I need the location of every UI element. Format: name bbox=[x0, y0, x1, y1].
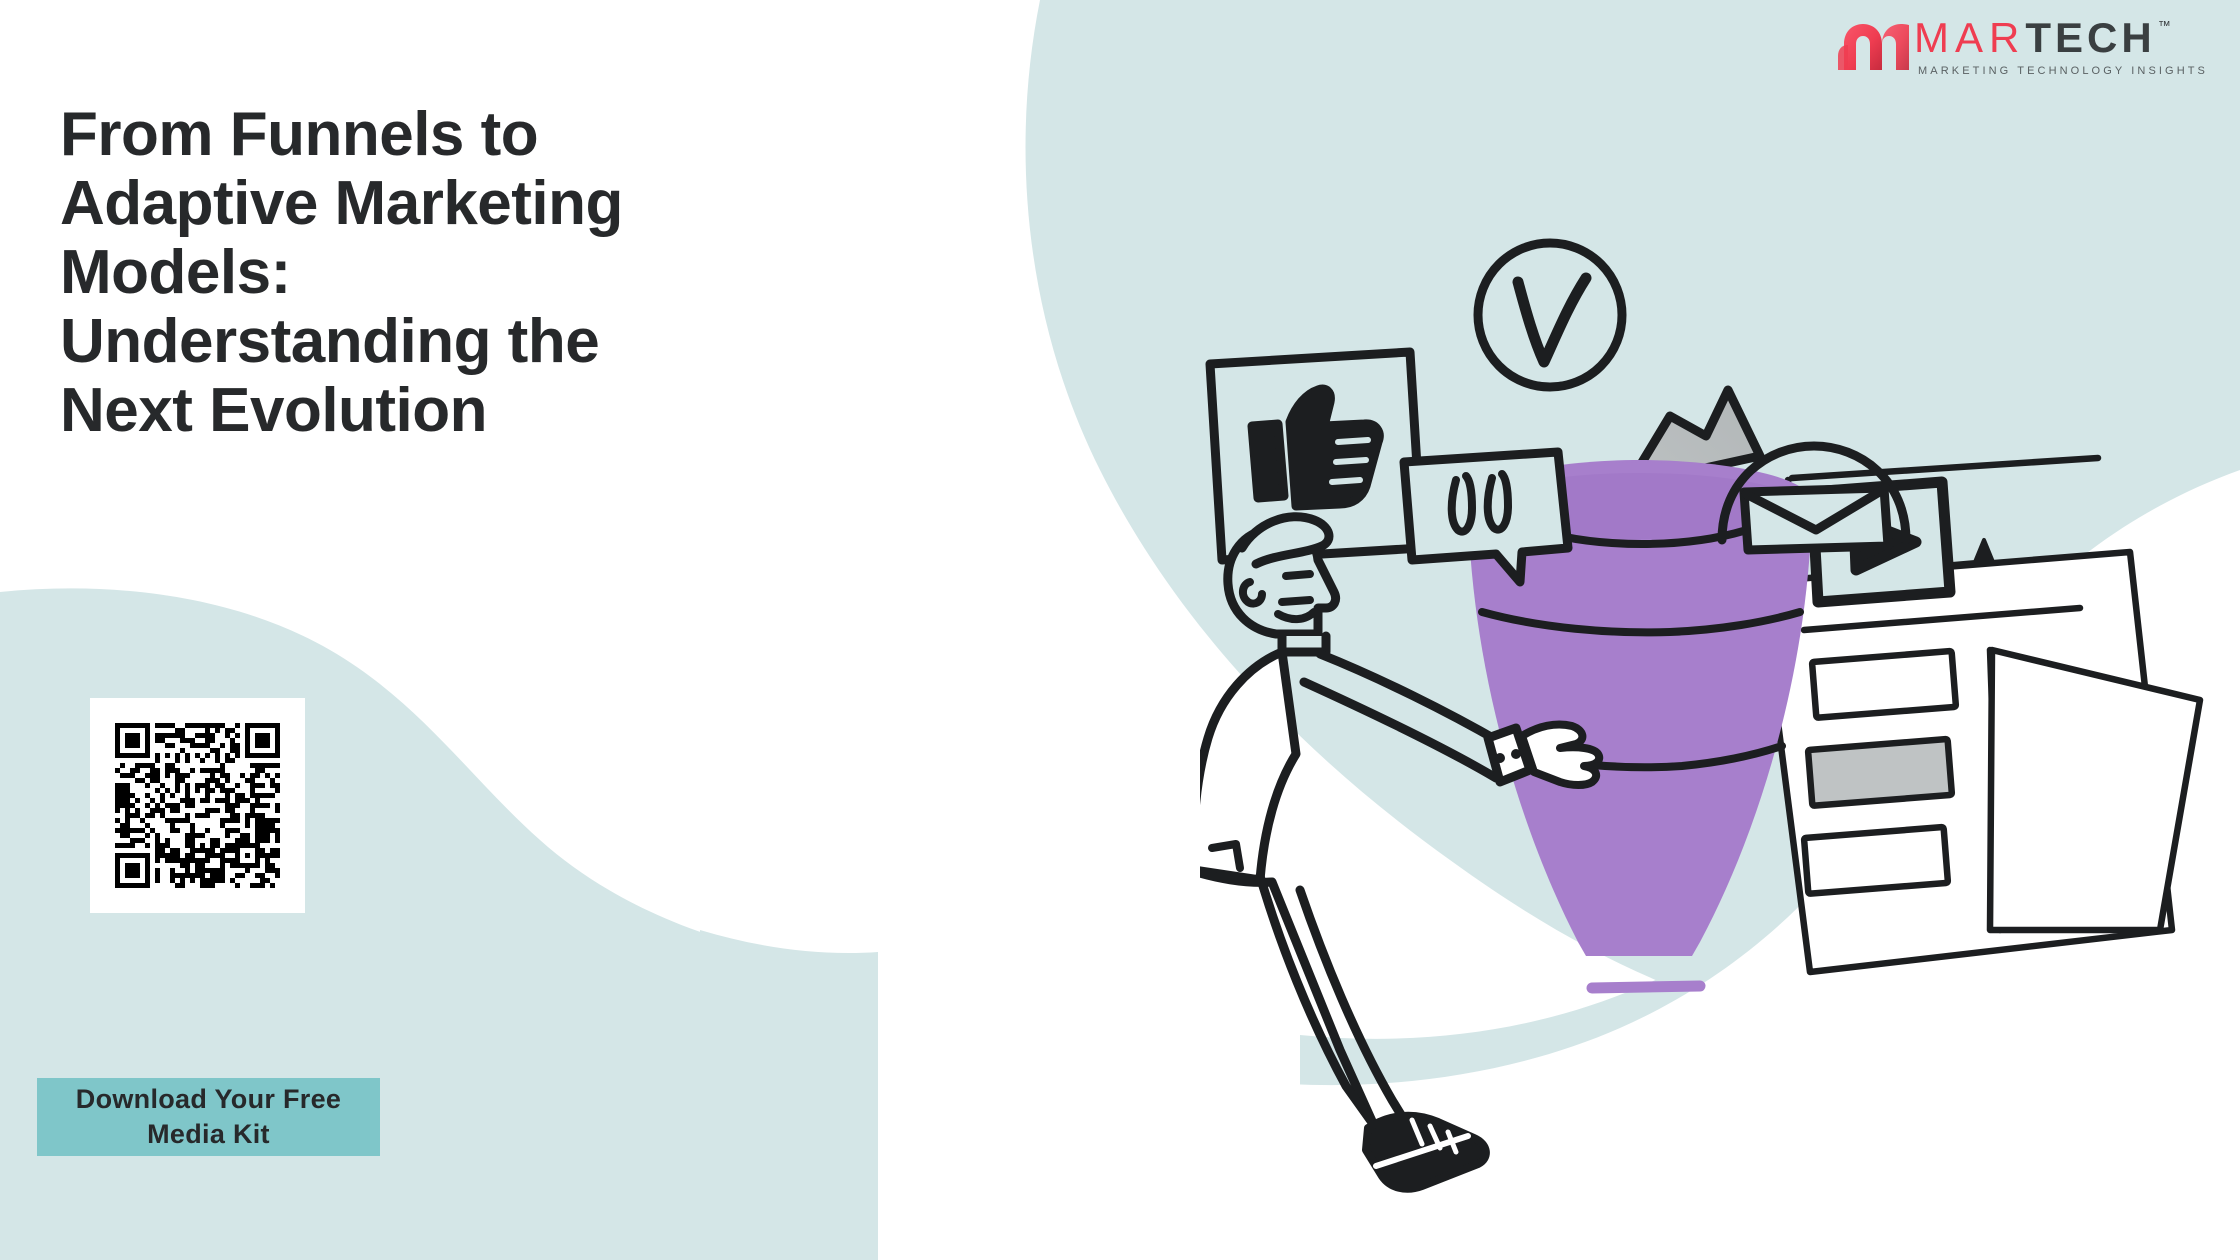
form-document-back bbox=[1990, 650, 2200, 930]
martech-m-mark-icon bbox=[1838, 16, 1910, 72]
logo-brand-first: MAR bbox=[1914, 14, 2025, 62]
page-title: From Funnels to Adaptive Marketing Model… bbox=[60, 100, 1060, 446]
qr-code-canvas bbox=[103, 711, 292, 900]
logo-tagline: MARKETING TECHNOLOGY INSIGHTS bbox=[1918, 65, 2208, 77]
qr-code[interactable] bbox=[90, 698, 305, 913]
marketing-funnel-illustration bbox=[1200, 230, 2220, 1250]
poster-canvas: From Funnels to Adaptive Marketing Model… bbox=[0, 0, 2240, 1260]
trademark-symbol: ™ bbox=[2158, 18, 2171, 33]
background-teal-left-blob-extend bbox=[700, 930, 878, 1260]
download-media-kit-button[interactable]: Download Your Free Media Kit bbox=[37, 1078, 380, 1156]
martech-logo[interactable]: MAR TECH ™ MARKETING TECHNOLOGY INSIGHTS bbox=[1838, 14, 2208, 77]
check-circle-icon bbox=[1478, 243, 1622, 387]
logo-brand-second: TECH bbox=[2025, 14, 2155, 62]
